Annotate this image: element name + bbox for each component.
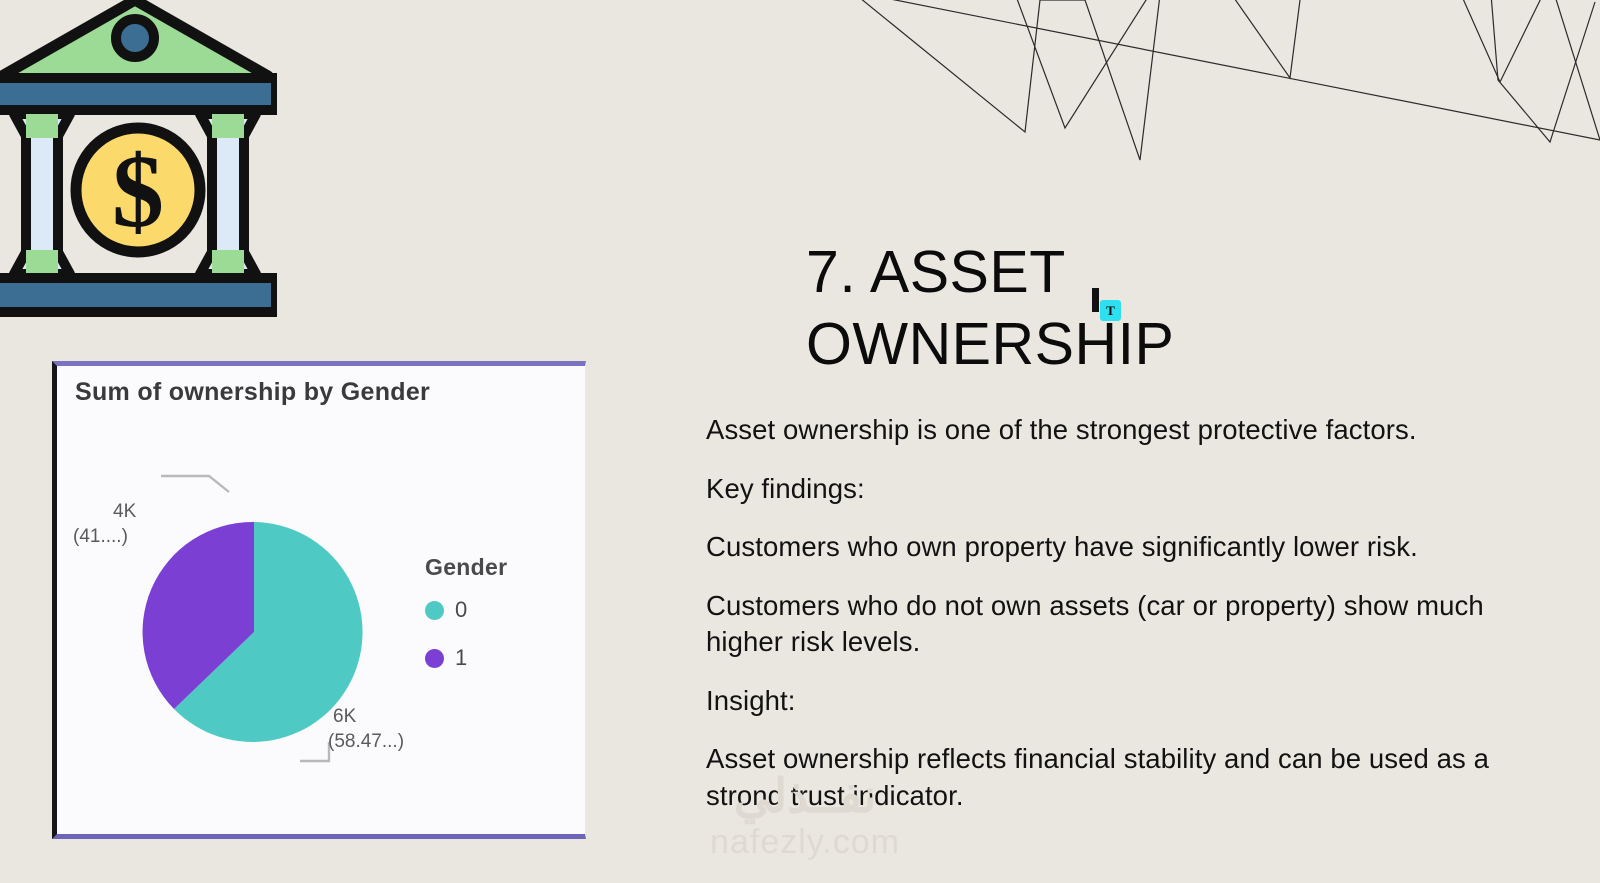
- pie-label-category-1: 4K (41....): [73, 499, 136, 549]
- body-paragraph-2: Customers who own property have signific…: [706, 529, 1551, 566]
- body-paragraph-4: Asset ownership reflects financial stabi…: [706, 741, 1551, 814]
- text-tool-cursor: T: [1092, 288, 1132, 328]
- body-paragraph-1: Asset ownership is one of the strongest …: [706, 412, 1551, 449]
- bank-building-dollar-icon: $: [0, 0, 277, 329]
- legend-swatch-purple-icon: [425, 649, 444, 668]
- chart-legend[interactable]: Gender 0 1: [425, 554, 507, 693]
- svg-text:$: $: [112, 134, 164, 249]
- body-paragraph-key-findings-heading: Key findings:: [706, 471, 1551, 508]
- body-paragraph-insight-heading: Insight:: [706, 683, 1551, 720]
- pie-chart-area[interactable]: 4K (41....) 6K (58.47...) Gender 0 1: [57, 414, 585, 834]
- page-title-line-1: 7. ASSET: [806, 237, 1506, 309]
- chart-title: Sum of ownership by Gender: [75, 378, 430, 407]
- pie-label-percent-0: (58.47...): [328, 729, 404, 754]
- legend-item-1[interactable]: 1: [425, 645, 507, 671]
- zigzag-line-decoration: [860, 0, 1600, 165]
- power-bi-chart-card[interactable]: Sum of ownership by Gender 4K (41....): [52, 361, 586, 839]
- legend-item-0[interactable]: 0: [425, 597, 507, 623]
- pie-label-category-0: 6K (58.47...): [333, 704, 404, 754]
- pie-label-value-0: 6K: [333, 704, 404, 729]
- pie-label-percent-1: (41....): [73, 524, 136, 549]
- text-caret-icon: [1092, 288, 1099, 312]
- pie-chart-svg[interactable]: [57, 414, 591, 834]
- pie-label-value-1: 4K: [113, 499, 136, 524]
- text-tool-badge-icon: T: [1100, 300, 1121, 321]
- legend-title: Gender: [425, 554, 507, 581]
- page-title[interactable]: 7. ASSET OWNERSHIP: [806, 237, 1506, 381]
- legend-label-1: 1: [455, 645, 467, 671]
- body-content[interactable]: Asset ownership is one of the strongest …: [706, 412, 1551, 837]
- legend-label-0: 0: [455, 597, 467, 623]
- slide-canvas: $ Sum of ownership by Gender 4K (41....): [0, 0, 1600, 883]
- legend-swatch-teal-icon: [425, 601, 444, 620]
- body-paragraph-3: Customers who do not own assets (car or …: [706, 588, 1551, 661]
- page-title-line-2: OWNERSHIP: [806, 309, 1506, 381]
